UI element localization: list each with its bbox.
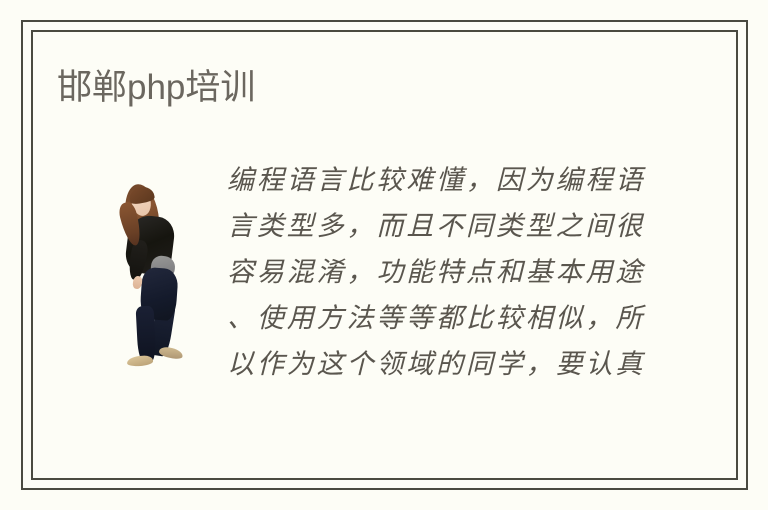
page-title: 邯郸php培训 [57, 66, 255, 110]
article-content: 编程语言比较难懂，因为编程语 言类型多，而且不同类型之间很 容易混淆，功能特点和… [31, 150, 738, 410]
page-root: 邯郸php培训 编程语言比较难懂，因为编程语 言类型多，而且不同类型之间 [0, 0, 768, 510]
woman-figure-illustration [113, 184, 189, 370]
article-photo [113, 184, 189, 370]
article-paragraph: 编程语言比较难懂，因为编程语 言类型多，而且不同类型之间很 容易混淆，功能特点和… [227, 158, 643, 388]
paragraph-line: 、使用方法等等都比较相似，所 [227, 296, 643, 342]
paragraph-line: 以作为这个领域的同学，要认真 [227, 342, 643, 388]
back-shoe-shape [158, 345, 184, 360]
front-shoe-shape [127, 355, 154, 367]
paragraph-line: 言类型多，而且不同类型之间很 [227, 204, 643, 250]
paragraph-line: 编程语言比较难懂，因为编程语 [227, 158, 643, 204]
front-leg-shape [136, 306, 157, 363]
paragraph-line: 容易混淆，功能特点和基本用途 [227, 250, 643, 296]
